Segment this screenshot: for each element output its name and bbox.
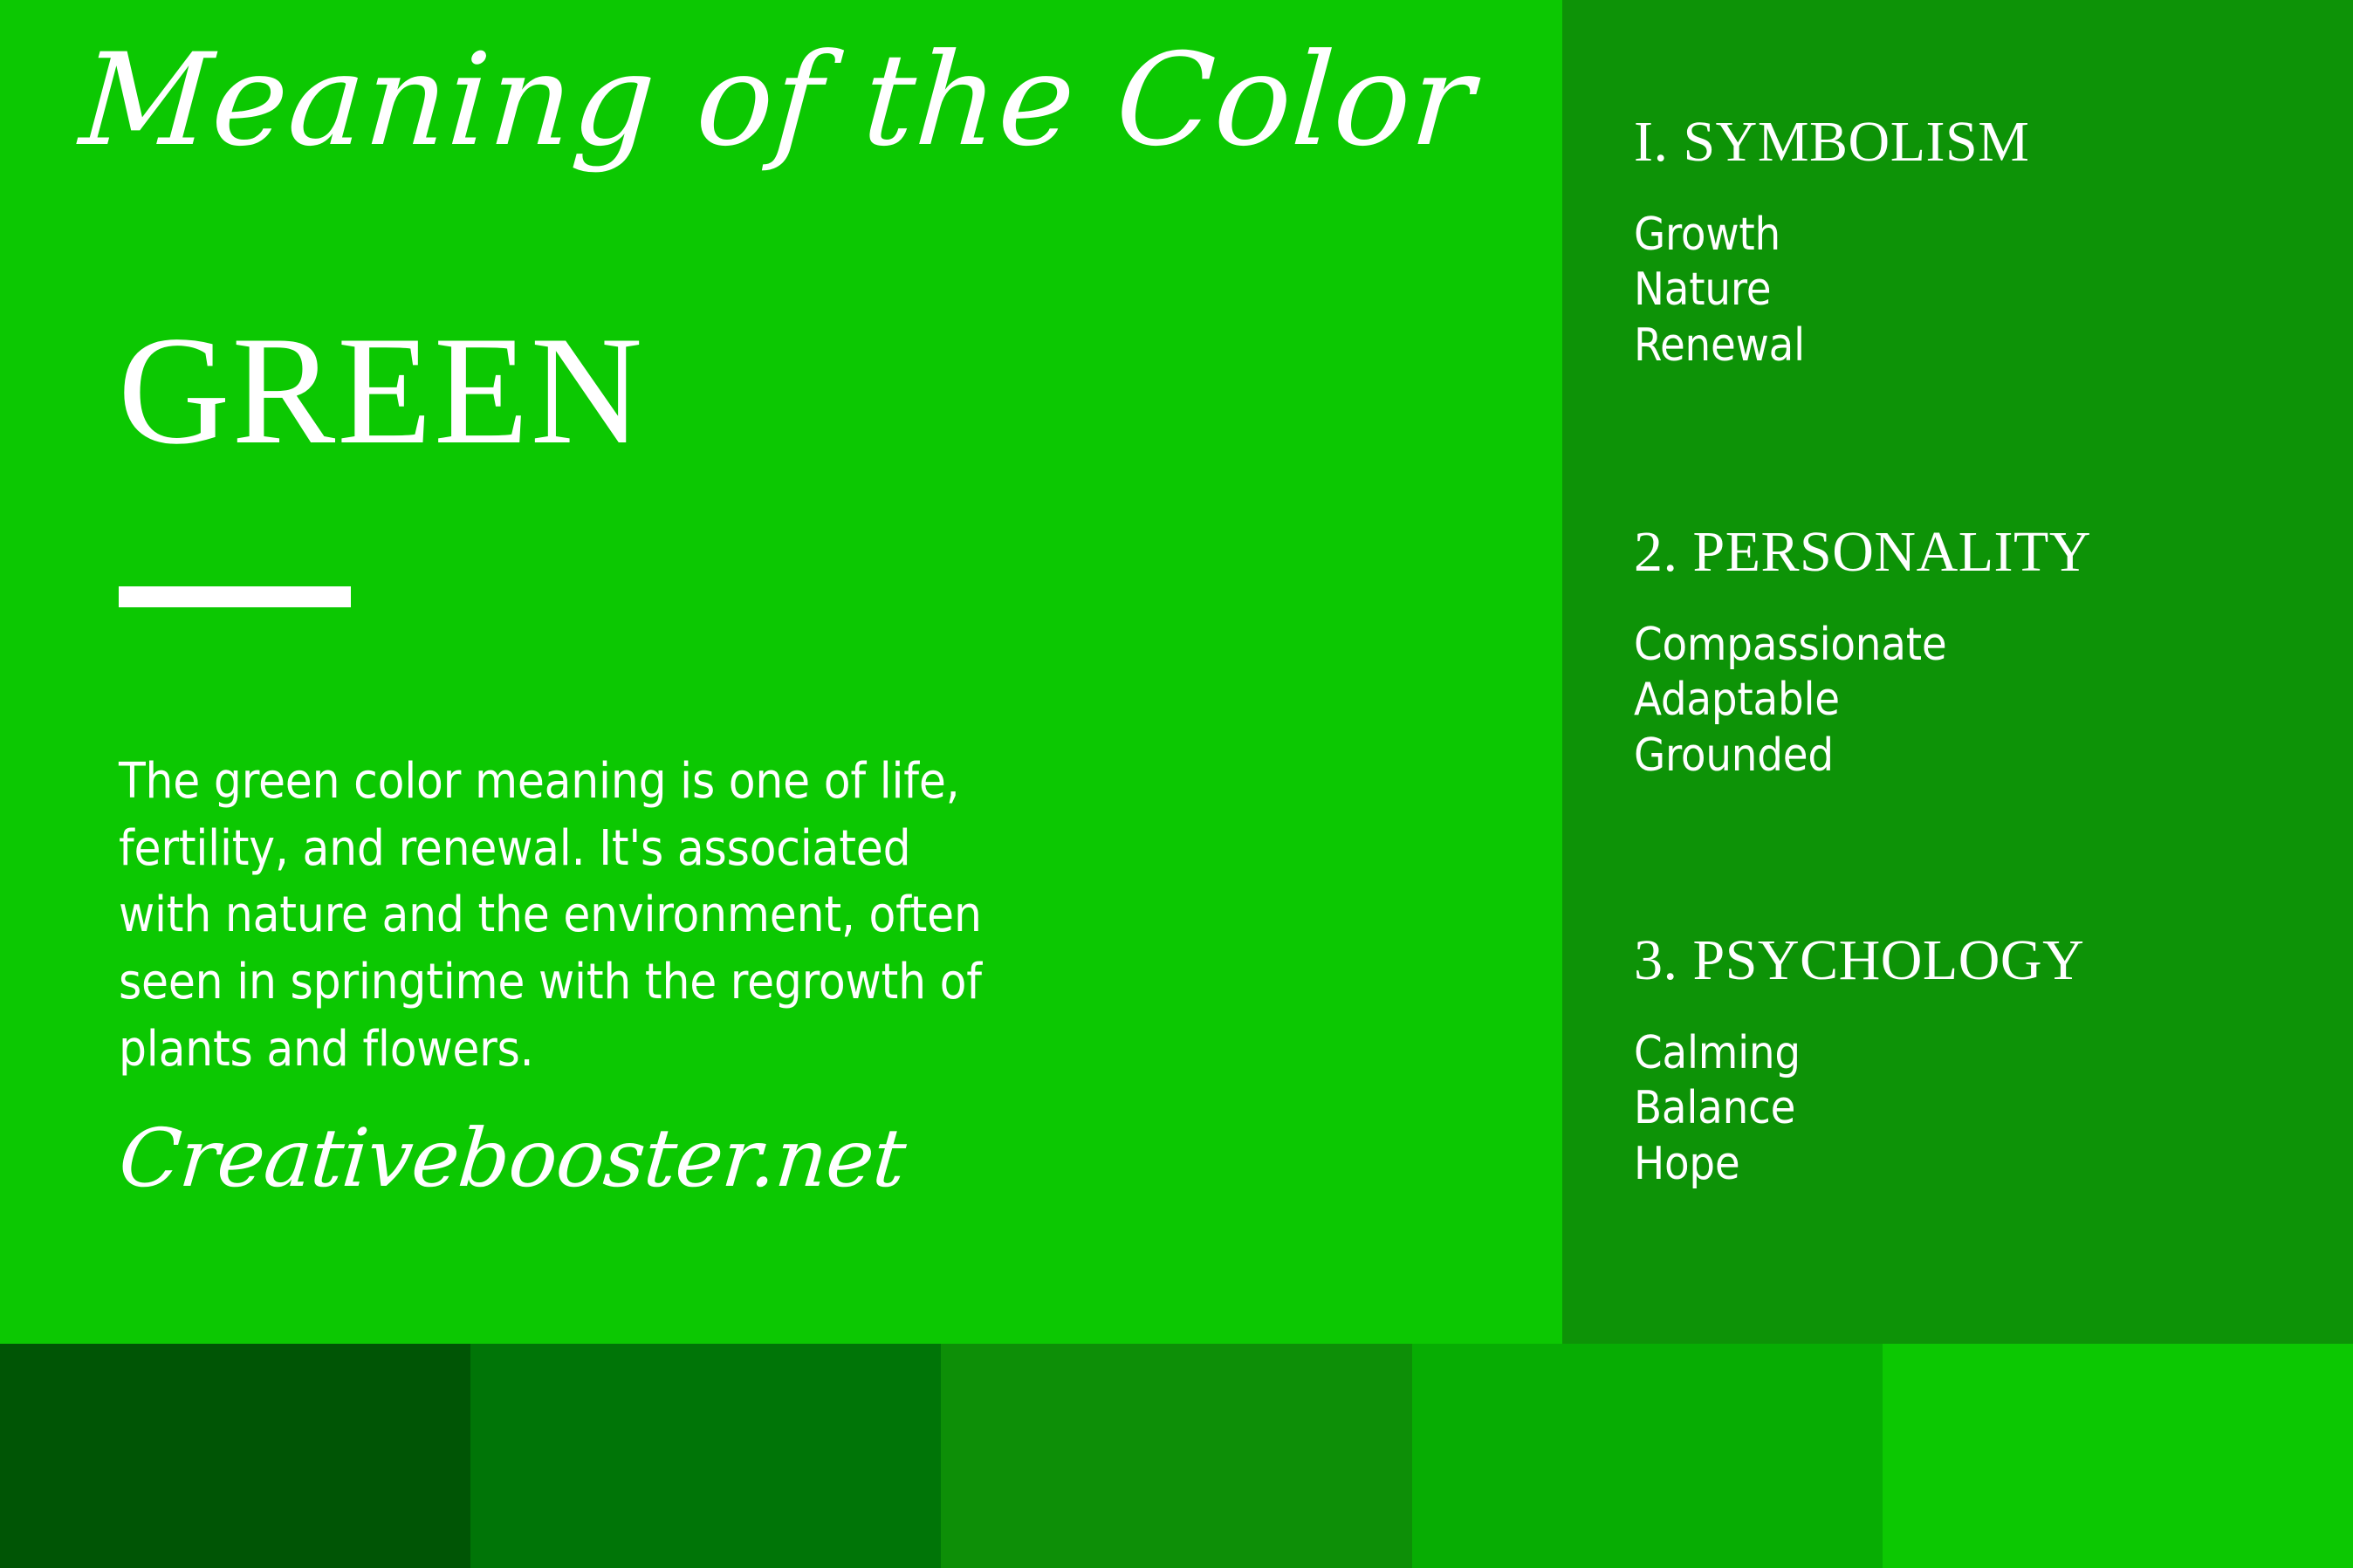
body-paragraph: The green color meaning is one of life, … — [119, 749, 991, 1084]
section-heading-symbolism: I. SYMBOLISM — [1634, 113, 2353, 171]
section-list-personality: Compassionate Adaptable Grounded — [1634, 618, 2353, 784]
list-item: Growth — [1634, 208, 2353, 263]
list-item: Balance — [1634, 1081, 2353, 1136]
list-item: Renewal — [1634, 318, 2353, 373]
list-item: Grounded — [1634, 729, 2353, 784]
swatch-dark — [470, 1344, 941, 1568]
brand-wordmark: Creativebooster.net — [116, 1119, 909, 1199]
script-title: Meaning of the Color — [77, 37, 1517, 164]
list-item: Calming — [1634, 1026, 2353, 1081]
title-underline-rule — [119, 586, 351, 607]
swatch-lightest — [1883, 1344, 2353, 1568]
list-item: Nature — [1634, 263, 2353, 318]
swatch-light — [1412, 1344, 1883, 1568]
poster-canvas: Meaning of the Color GREEN The green col… — [0, 0, 2353, 1568]
section-heading-psychology: 3. PSYCHOLOGY — [1634, 932, 2353, 989]
swatch-mid — [941, 1344, 1411, 1568]
section-personality: 2. PERSONALITY Compassionate Adaptable G… — [1634, 524, 2353, 784]
list-item: Hope — [1634, 1137, 2353, 1192]
left-panel-content: Meaning of the Color GREEN The green col… — [118, 0, 1514, 1344]
page-title: GREEN — [118, 312, 644, 468]
section-heading-personality: 2. PERSONALITY — [1634, 524, 2353, 581]
section-symbolism: I. SYMBOLISM Growth Nature Renewal — [1634, 113, 2353, 373]
right-panel-content: I. SYMBOLISM Growth Nature Renewal 2. PE… — [1634, 0, 2353, 1344]
swatch-darkest — [0, 1344, 470, 1568]
section-list-psychology: Calming Balance Hope — [1634, 1026, 2353, 1192]
list-item: Adaptable — [1634, 673, 2353, 728]
section-psychology: 3. PSYCHOLOGY Calming Balance Hope — [1634, 932, 2353, 1192]
color-palette-strip — [0, 1344, 2353, 1568]
section-list-symbolism: Growth Nature Renewal — [1634, 208, 2353, 373]
list-item: Compassionate — [1634, 618, 2353, 673]
